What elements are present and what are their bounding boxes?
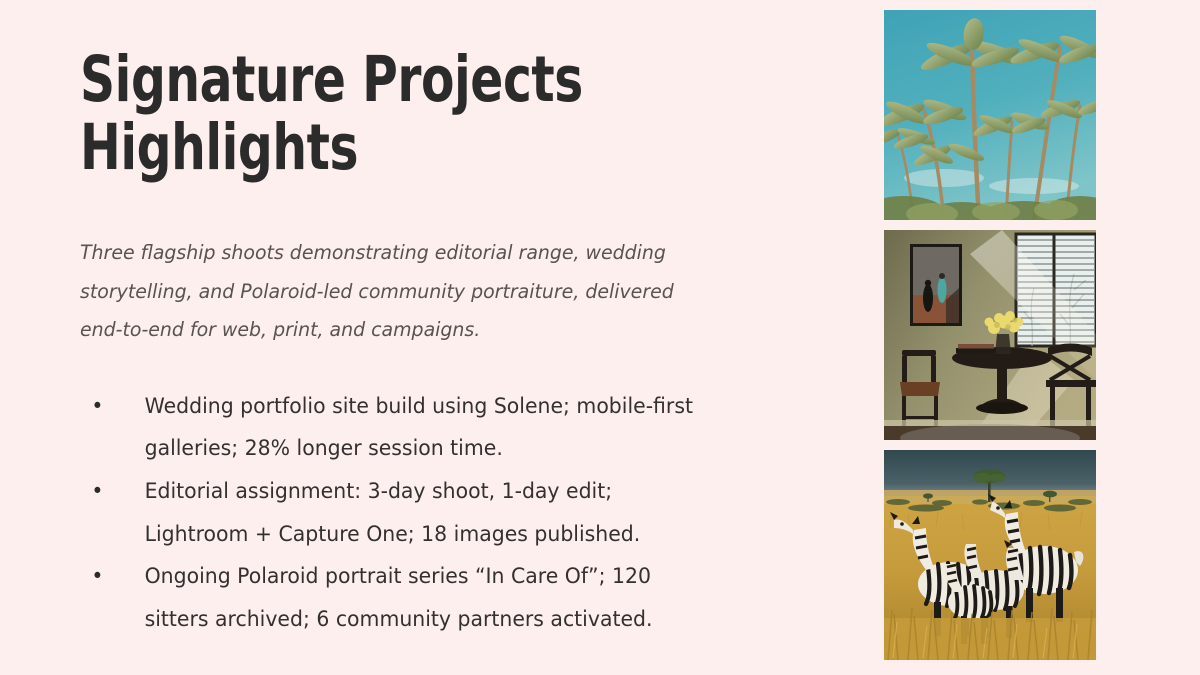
slide-subtitle: Three flagship shoots demonstrating edit…: [80, 182, 720, 350]
zebras-savanna-photo: [884, 450, 1096, 660]
bullet-dot-icon: •: [91, 471, 103, 514]
bullet-dot-icon: •: [91, 386, 103, 429]
zebras-savanna-illustration: [884, 450, 1096, 660]
bullet-dot-icon: •: [91, 556, 103, 599]
list-item: • Wedding portfolio site build using Sol…: [80, 386, 715, 471]
list-item: • Ongoing Polaroid portrait series “In C…: [80, 556, 715, 641]
slide-content: Signature Projects Highlights Three flag…: [80, 46, 780, 641]
page-title: Signature Projects Highlights: [80, 46, 682, 182]
palm-trees-photo: [884, 10, 1096, 220]
list-item-text: Wedding portfolio site build using Solen…: [145, 394, 693, 462]
palm-trees-illustration: [884, 10, 1096, 220]
slide-root: Signature Projects Highlights Three flag…: [0, 0, 1200, 675]
photo-stack: [884, 10, 1096, 660]
interior-room-photo: [884, 230, 1096, 440]
list-item: • Editorial assignment: 3-day shoot, 1-d…: [80, 471, 715, 556]
list-item-text: Ongoing Polaroid portrait series “In Car…: [145, 564, 653, 632]
list-item-text: Editorial assignment: 3-day shoot, 1-day…: [145, 479, 641, 547]
highlights-list: • Wedding portfolio site build using Sol…: [80, 350, 780, 641]
interior-room-illustration: [884, 230, 1096, 440]
